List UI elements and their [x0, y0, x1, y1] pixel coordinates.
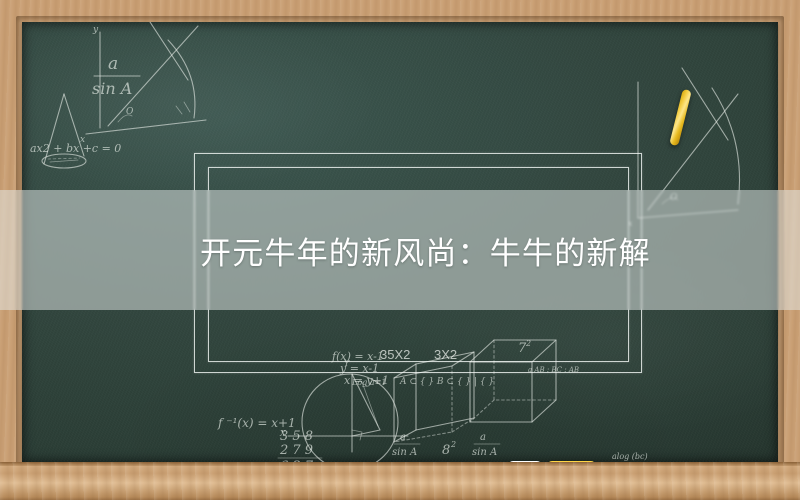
- ledge-wood-grain: [0, 462, 800, 500]
- chalkboard-image: a sin A ax2 + bx +c = 0 y x O: [0, 0, 800, 500]
- page-title: 开元牛年的新风尚：牛牛的新解: [200, 190, 651, 310]
- chalk-ledge: [0, 462, 800, 500]
